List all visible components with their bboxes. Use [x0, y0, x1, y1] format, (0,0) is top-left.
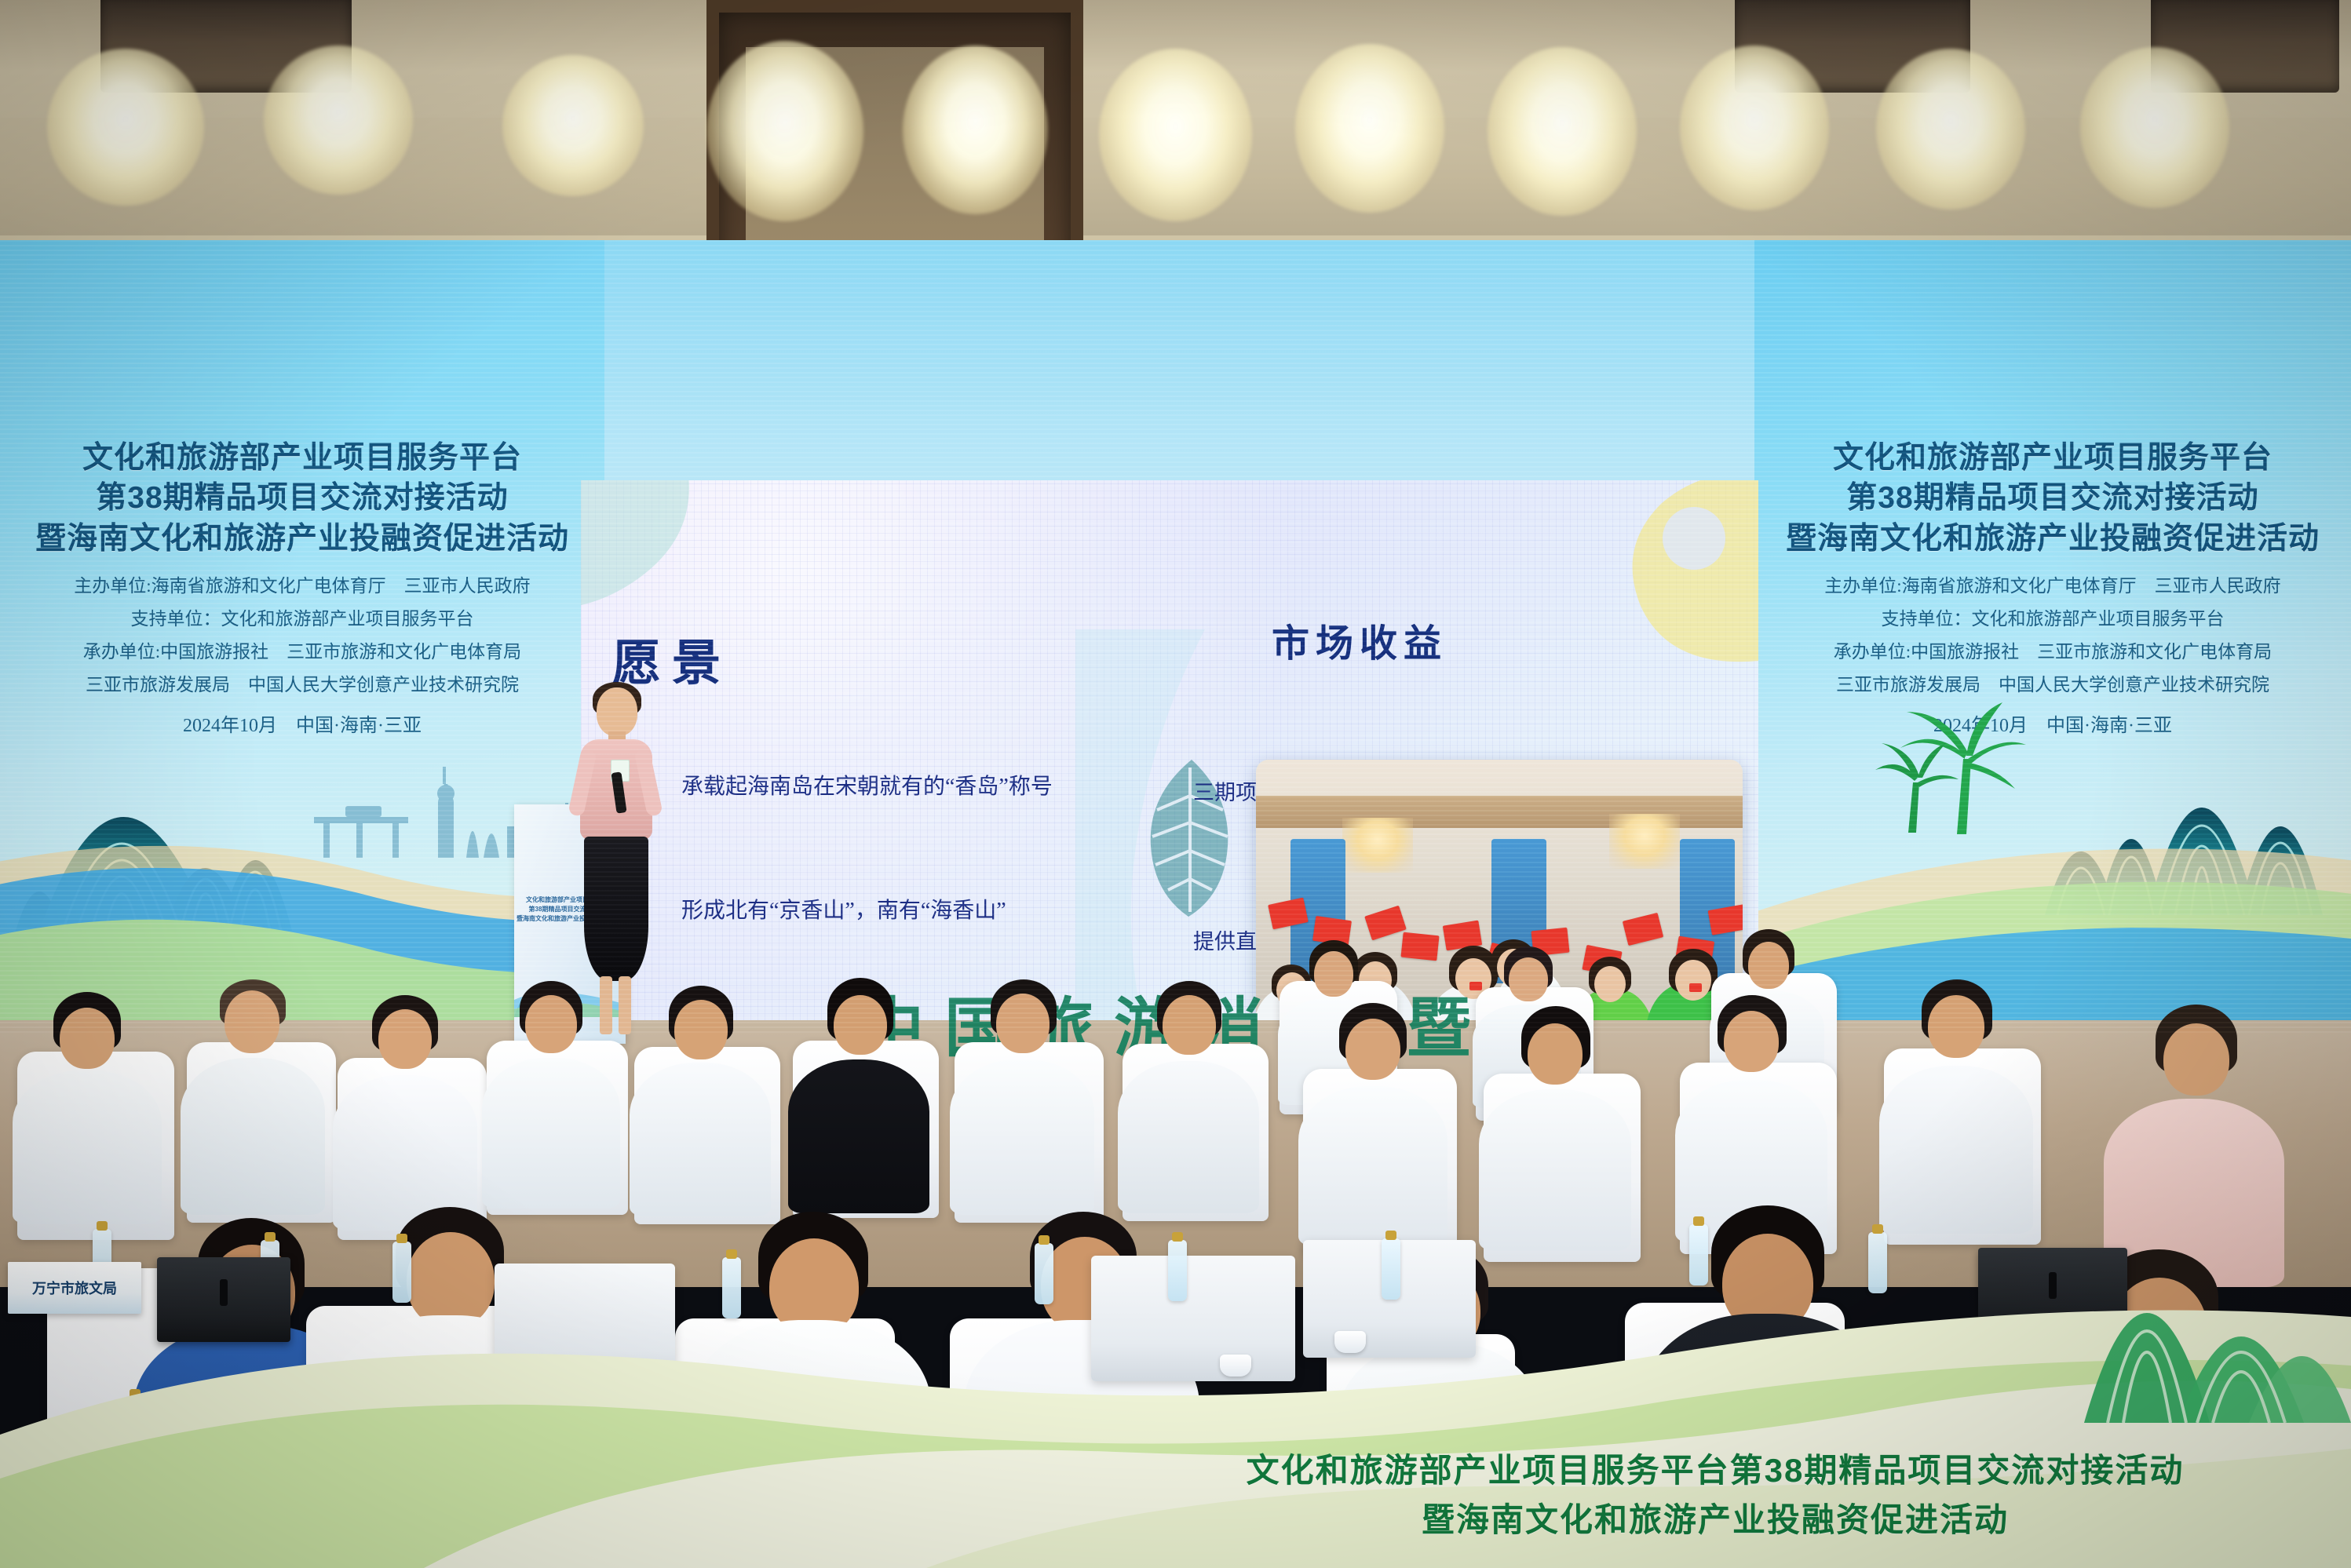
head: [674, 1000, 728, 1059]
banner-line-2: 暨海南文化和旅游产业投融资促进活动: [1126, 1495, 2304, 1544]
torso: [181, 1058, 325, 1215]
kv-title-line: 暨海南文化和旅游产业投融资促进活动: [17, 519, 587, 559]
kv-title-line: 文化和旅游部产业项目服务平台: [1772, 438, 2334, 478]
head: [1724, 1011, 1779, 1072]
attendee: [482, 981, 620, 1209]
head: [1928, 995, 1984, 1058]
teacup-icon: [1220, 1355, 1251, 1377]
torso: [950, 1059, 1094, 1215]
torso: [482, 1058, 620, 1209]
head: [1345, 1019, 1400, 1080]
kv-left-title: 文化和旅游部产业项目服务平台 第38期精品项目交流对接活动 暨海南文化和旅游产业…: [0, 438, 604, 559]
ceiling-spotlight: [264, 46, 413, 195]
teacup-icon: [1334, 1331, 1366, 1353]
water-bottle-icon: [392, 1242, 411, 1303]
conference-photo-scene: 文化和旅游部产业项目服务平台 第38期精品项目交流对接活动 暨海南文化和旅游产业…: [0, 0, 2351, 1568]
ceiling-spotlight: [706, 41, 863, 221]
ceiling-spotlight: [903, 46, 1048, 214]
attendee: [13, 992, 162, 1224]
kv-org-line: 主办单位:海南省旅游和文化广电体育厅 三亚市人民政府: [31, 570, 573, 603]
attendee: [333, 995, 477, 1231]
head: [525, 995, 577, 1053]
kv-org-line: 承办单位:中国旅游报社 三亚市旅游和文化广电体育局: [1786, 636, 2320, 669]
kv-right-organizers: 主办单位:海南省旅游和文化广电体育厅 三亚市人民政府 支持单位：文化和旅游部产业…: [1754, 570, 2351, 701]
stage-speaker-icon: [157, 1257, 290, 1342]
ceiling-spotlight: [1488, 47, 1637, 216]
chandelier-icon: [1342, 818, 1413, 873]
kv-right-title: 文化和旅游部产业项目服务平台 第38期精品项目交流对接活动 暨海南文化和旅游产业…: [1754, 438, 2351, 559]
ceiling-spotlight: [502, 55, 644, 196]
water-bottle-icon: [722, 1257, 741, 1318]
kv-org-line: 承办单位:中国旅游报社 三亚市旅游和文化广电体育局: [31, 636, 573, 669]
attendee: [1298, 1003, 1447, 1246]
ceiling-spotlight: [2080, 47, 2229, 208]
head: [2163, 1023, 2229, 1096]
kv-title-line: 暨海南文化和旅游产业投融资促进活动: [1772, 519, 2334, 559]
audience-table: [1091, 1256, 1295, 1381]
head: [1528, 1023, 1583, 1085]
kv-org-line: 支持单位：文化和旅游部产业项目服务平台: [1786, 603, 2320, 636]
kv-title-line: 第38期精品项目交流对接活动: [1772, 478, 2334, 518]
head: [1163, 995, 1216, 1055]
water-bottle-icon: [1689, 1224, 1708, 1285]
water-bottle-icon: [126, 1397, 144, 1458]
banner-line-1: 文化和旅游部产业项目服务平台第38期精品项目交流对接活动: [1247, 1452, 2185, 1489]
head: [1509, 957, 1548, 1001]
water-bottle-icon: [1168, 1240, 1187, 1301]
attendee: [788, 978, 929, 1213]
vision-heading: 愿景: [612, 623, 732, 694]
head: [834, 995, 887, 1055]
kv-title-line: 文化和旅游部产业项目服务平台: [17, 438, 587, 478]
attendee: [630, 986, 771, 1216]
torso: [1479, 1089, 1631, 1251]
head: [60, 1008, 115, 1069]
name-card-label: 万宁市旅文局: [32, 1278, 117, 1298]
attendee: [950, 979, 1094, 1215]
water-bottle-icon: [1868, 1232, 1887, 1293]
bottom-banner-text: 文化和旅游部产业项目服务平台第38期精品项目交流对接活动 暨海南文化和旅游产业投…: [1126, 1446, 2304, 1544]
head: [996, 994, 1050, 1053]
attendee: [1479, 1006, 1631, 1251]
kv-title-line: 第38期精品项目交流对接活动: [17, 478, 587, 518]
chandelier-icon: [1609, 814, 1680, 869]
revenue-heading: 市场收益: [1272, 612, 1447, 667]
table-name-card: 万宁市旅文局: [8, 1262, 141, 1314]
head: [378, 1009, 432, 1069]
kv-left-organizers: 主办单位:海南省旅游和文化广电体育厅 三亚市人民政府 支持单位：文化和旅游部产业…: [0, 570, 604, 701]
head: [407, 1232, 495, 1328]
head: [225, 990, 279, 1053]
attendee: [1118, 981, 1259, 1213]
ceiling-spotlight: [1099, 49, 1252, 221]
ceiling-spotlight: [1876, 49, 2025, 210]
head: [1314, 951, 1353, 997]
head: [1748, 942, 1789, 989]
ceiling-spotlight: [47, 49, 204, 206]
water-bottle-icon: [1035, 1243, 1053, 1304]
ceiling-spotlight: [1295, 44, 1444, 213]
ceiling-spotlight: [1680, 46, 1829, 210]
attendee: [181, 979, 325, 1215]
head: [597, 687, 637, 736]
torso: [788, 1059, 929, 1213]
bottom-mountain-graphic: [1990, 1172, 2351, 1427]
audience-table: [495, 1264, 675, 1389]
kv-org-line: 支持单位：文化和旅游部产业项目服务平台: [31, 603, 573, 636]
torso: [1298, 1086, 1447, 1246]
torso: [13, 1070, 162, 1224]
kv-org-line: 主办单位:海南省旅游和文化广电体育厅 三亚市人民政府: [1786, 570, 2320, 603]
torso: [630, 1063, 771, 1216]
decorative-blob: [1642, 494, 1744, 593]
water-bottle-icon: [1382, 1238, 1400, 1300]
torso: [691, 1320, 931, 1568]
vision-line: 承载起海南岛在宋朝就有的“香岛”称号: [595, 767, 1102, 808]
torso: [1118, 1061, 1259, 1213]
